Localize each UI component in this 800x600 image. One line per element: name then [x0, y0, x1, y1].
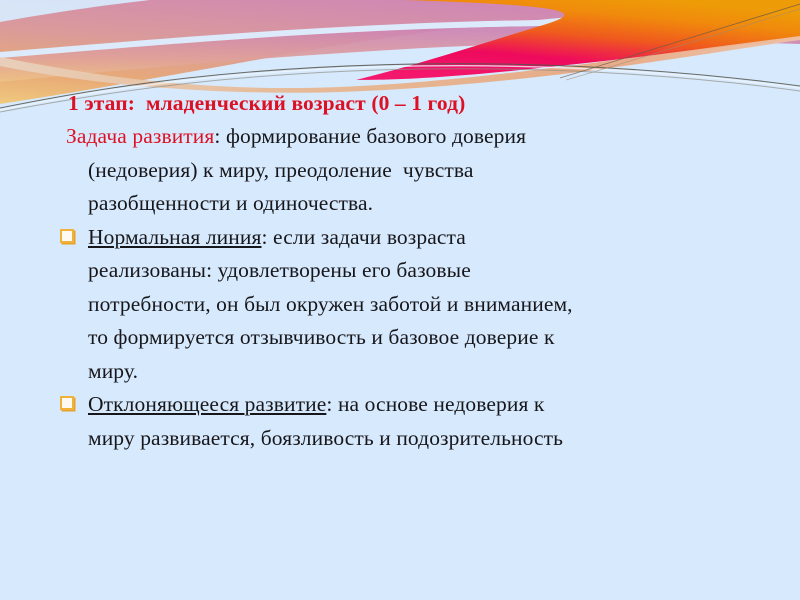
presentation-slide: 1 этап: младенческий возраст (0 – 1 год)… — [0, 0, 800, 600]
square-bullet-icon — [60, 396, 74, 410]
lead-separator: : — [214, 124, 226, 148]
lead-continuation-line: (недоверия) к миру, преодоление чувства — [0, 154, 800, 188]
bullet-continuation-line: то формируется отзывчивость и базовое до… — [0, 321, 800, 355]
bullet-separator: : — [261, 225, 273, 249]
lead-paragraph-first-line: Задача развития: формирование базового д… — [0, 120, 800, 154]
bullet-continuation-line: потребности, он был окружен заботой и вн… — [0, 288, 800, 322]
square-bullet-icon — [60, 229, 74, 243]
bullet-item: Нормальная линия: если задачи возраста — [0, 221, 800, 255]
bullet-continuation-line: реализованы: удовлетворены его базовые — [0, 254, 800, 288]
bullet-label: Нормальная линия — [88, 225, 261, 249]
slide-body: 1 этап: младенческий возраст (0 – 1 год)… — [0, 86, 800, 455]
bullet-text: на основе недоверия к — [338, 392, 545, 416]
lead-label: Задача развития — [66, 124, 214, 148]
lead-text: формирование базового доверия — [226, 124, 526, 148]
lead-continuation-line: разобщенности и одиночества. — [0, 187, 800, 221]
bullet-separator: : — [326, 392, 338, 416]
slide-title: 1 этап: младенческий возраст (0 – 1 год) — [0, 86, 800, 120]
bullet-item: Отклоняющееся развитие: на основе недове… — [0, 388, 800, 422]
bullet-continuation-line: миру. — [0, 355, 800, 389]
bullet-continuation-line: миру развивается, боязливость и подозрит… — [0, 422, 800, 456]
bullet-label: Отклоняющееся развитие — [88, 392, 326, 416]
bullet-text: если задачи возраста — [273, 225, 466, 249]
